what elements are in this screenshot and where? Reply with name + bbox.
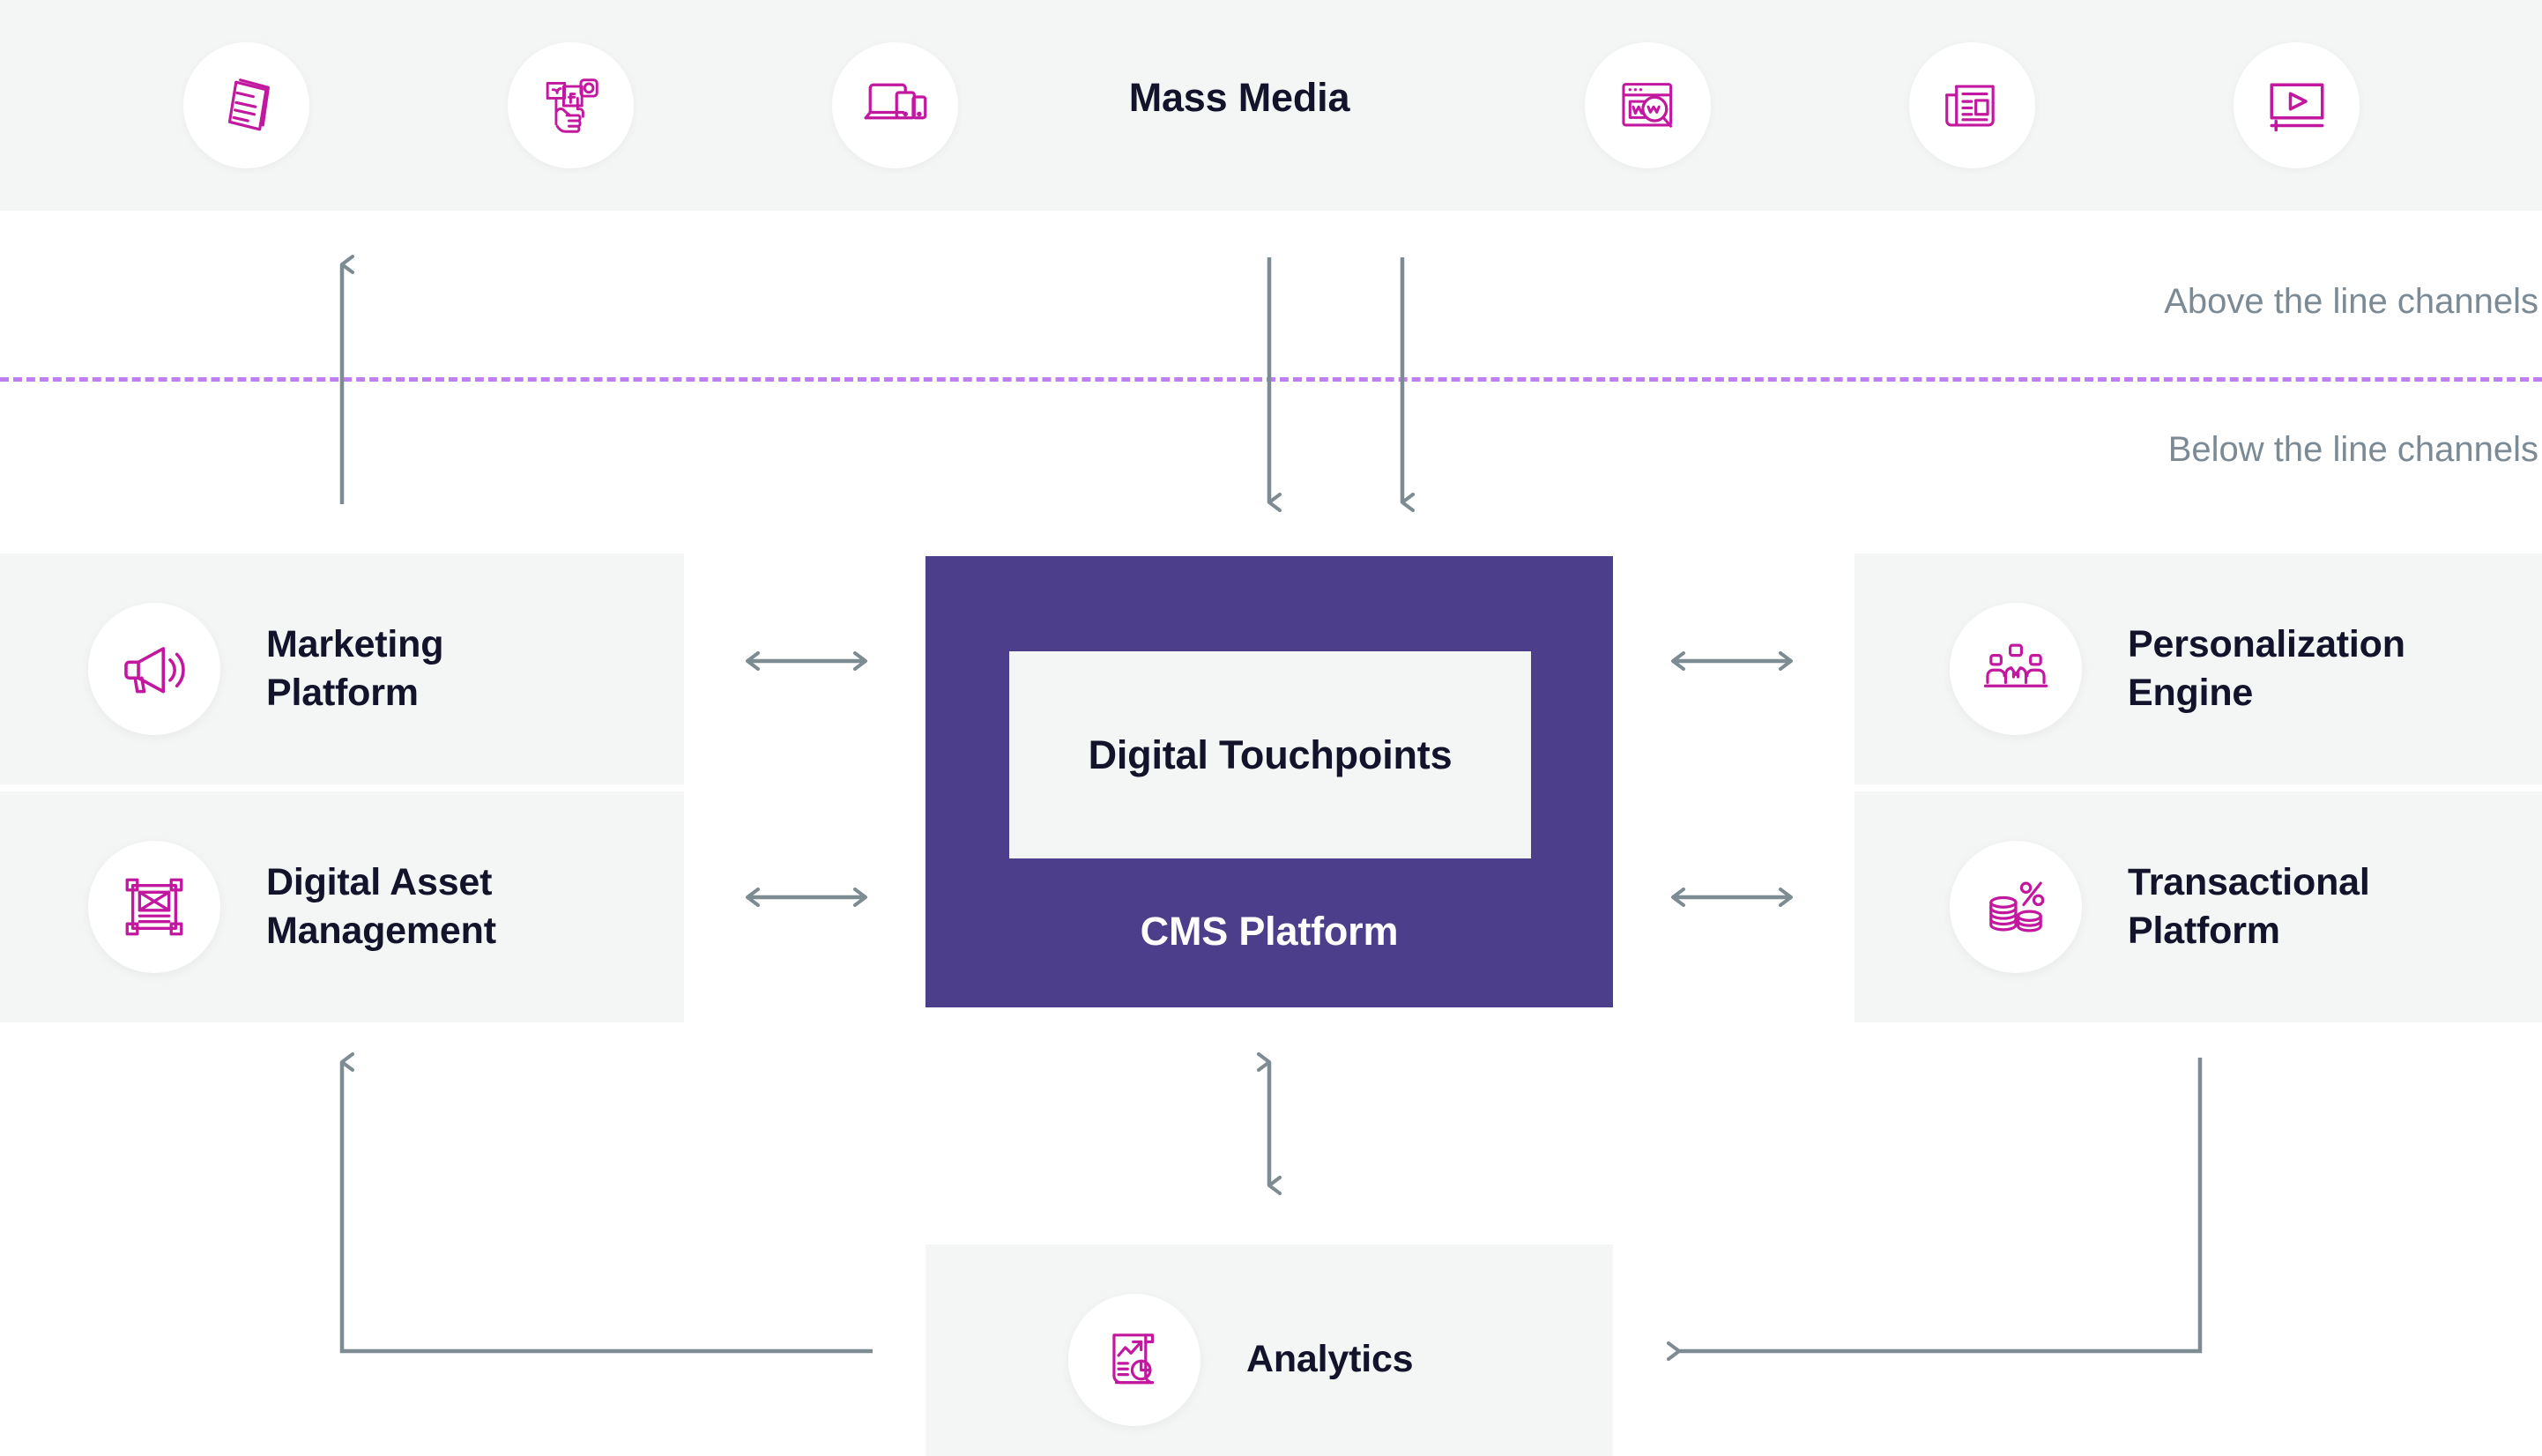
users-group-icon (1950, 603, 2082, 735)
newspaper-icon (1909, 42, 2035, 168)
card-transactional-platform[interactable]: Transactional Platform (1854, 791, 2542, 1022)
analytics-label: Analytics (1246, 1335, 1413, 1384)
media-icon-video-player[interactable] (2234, 42, 2360, 168)
page-title: Mass Media (1054, 75, 1424, 121)
card-label-line1: Personalization (2128, 623, 2405, 665)
card-label-line1: Digital Asset (266, 861, 492, 903)
card-analytics[interactable]: Analytics (925, 1244, 1613, 1456)
digital-touchpoints-box: Digital Touchpoints (1009, 651, 1531, 858)
card-label-line2: Engine (2128, 669, 2405, 717)
card-marketing-platform[interactable]: Marketing Platform (0, 553, 684, 784)
video-player-icon (2234, 42, 2360, 168)
card-label-line1: Marketing (266, 623, 443, 665)
media-icon-print-media[interactable] (183, 42, 309, 168)
asset-frame-icon (88, 841, 220, 973)
digital-touchpoints-label: Digital Touchpoints (1089, 732, 1453, 778)
social-media-icon (508, 42, 634, 168)
card-label: Marketing Platform (266, 620, 443, 717)
card-personalization-engine[interactable]: Personalization Engine (1854, 553, 2542, 784)
analytics-report-icon (1068, 1294, 1200, 1426)
card-label-line2: Platform (266, 669, 443, 717)
mass-media-band: Mass Media (0, 0, 2542, 211)
media-icon-newspaper[interactable] (1909, 42, 2035, 168)
media-icon-social-media[interactable] (508, 42, 634, 168)
card-label-line2: Platform (2128, 907, 2370, 955)
above-the-line-label: Above the line channels (2164, 282, 2538, 322)
media-icon-devices[interactable] (832, 42, 958, 168)
card-label-line2: Management (266, 907, 496, 955)
below-the-line-label: Below the line channels (2168, 430, 2538, 470)
coins-percent-icon (1950, 841, 2082, 973)
megaphone-icon (88, 603, 220, 735)
devices-icon (832, 42, 958, 168)
print-media-icon (183, 42, 309, 168)
card-digital-asset-management[interactable]: Digital Asset Management (0, 791, 684, 1022)
card-label: Transactional Platform (2128, 858, 2370, 955)
channel-divider (0, 377, 2542, 382)
card-label: Personalization Engine (2128, 620, 2405, 717)
card-label: Digital Asset Management (266, 858, 496, 955)
card-label-line1: Transactional (2128, 861, 2370, 903)
media-icon-web-search[interactable] (1585, 42, 1711, 168)
web-search-icon (1585, 42, 1711, 168)
cms-platform-block[interactable]: Digital Touchpoints CMS Platform (925, 556, 1613, 1007)
diagram-canvas: Mass Media Above the line channels Below… (0, 0, 2542, 1456)
cms-platform-label: CMS Platform (925, 909, 1613, 955)
